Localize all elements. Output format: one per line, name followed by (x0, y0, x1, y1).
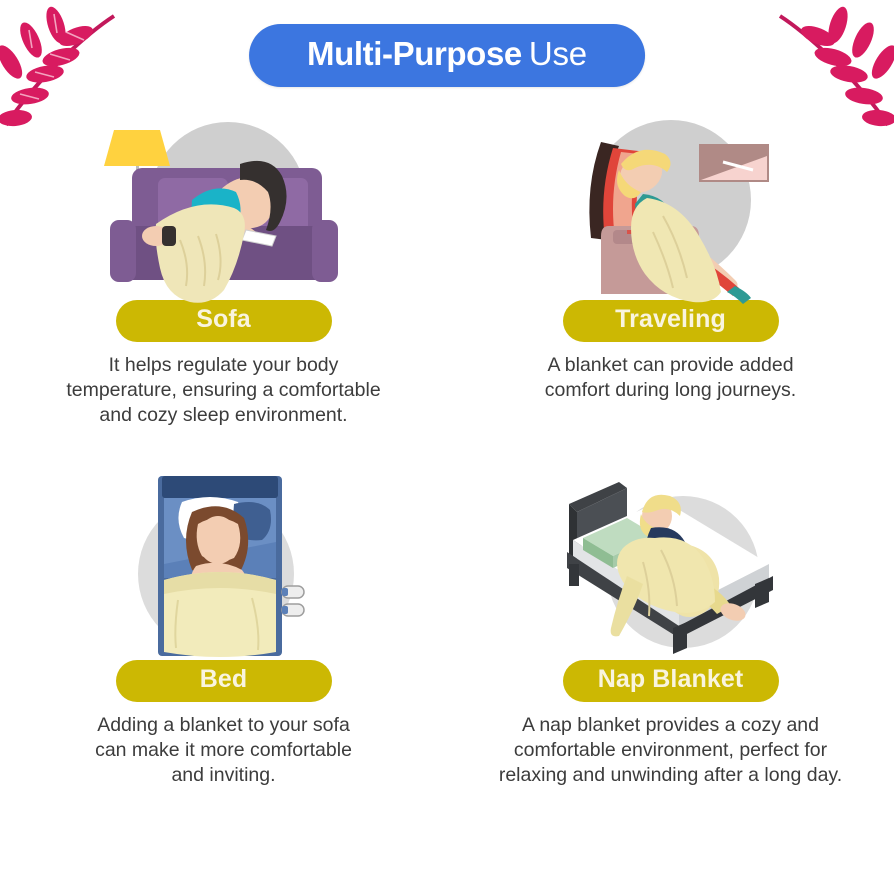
feature-card-nap-blanket: Nap Blanket A nap blanket provides a coz… (447, 468, 894, 788)
woman-reading-on-sofa-icon (100, 108, 348, 304)
feature-card-sofa: Sofa It helps regulate your body tempera… (0, 108, 447, 428)
card-label-nap-blanket: Nap Blanket (563, 660, 779, 702)
card-label-text: Sofa (196, 305, 251, 333)
woman-reclining-travel-seat-icon (547, 108, 795, 304)
woman-sleeping-in-bed-topdown-icon (100, 468, 348, 664)
person-napping-on-bed-isometric-icon (547, 468, 795, 664)
card-description-bed: Adding a blanket to your sofa can make i… (59, 713, 389, 788)
feature-grid: Sofa It helps regulate your body tempera… (0, 108, 894, 788)
feature-card-bed: Bed Adding a blanket to your sofa can ma… (0, 468, 447, 788)
card-description-sofa: It helps regulate your body temperature,… (28, 353, 420, 428)
card-description-traveling: A blanket can provide added comfort duri… (506, 353, 836, 403)
card-label-text: Nap Blanket (598, 665, 744, 693)
card-label-sofa: Sofa (116, 300, 332, 342)
infographic-page: Multi-PurposeUse (0, 0, 894, 894)
feature-card-traveling: Traveling A blanket can provide added co… (447, 108, 894, 428)
card-description-nap-blanket: A nap blanket provides a cozy and comfor… (471, 713, 871, 788)
page-title-light: Use (529, 35, 587, 72)
card-label-text: Traveling (615, 305, 726, 333)
card-label-bed: Bed (116, 660, 332, 702)
page-title-banner: Multi-PurposeUse (249, 24, 645, 87)
card-label-traveling: Traveling (563, 300, 779, 342)
card-label-text: Bed (200, 665, 248, 693)
page-title-bold: Multi-Purpose (307, 35, 522, 72)
